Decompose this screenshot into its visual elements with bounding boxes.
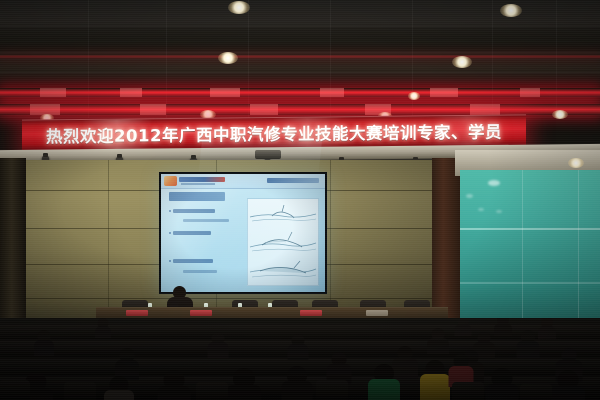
projection-screen [159,172,327,294]
ceiling-downlight [408,92,420,100]
audience-seat [196,382,228,400]
audience-member [210,332,226,352]
audience-member [330,352,348,376]
audience-member [232,368,256,400]
audience-member [162,370,186,400]
name-plate [190,310,212,316]
audience-member [286,366,308,396]
audience-seating [0,318,600,400]
ceiling-downlight [568,158,584,168]
audience-member [424,360,446,392]
audience-seat [316,380,348,400]
ceiling-downlight [452,56,472,68]
ceiling [0,0,600,118]
audience-member [372,364,396,398]
glass-wall-panel [460,170,600,335]
audience-member [556,370,580,400]
audience-member [496,318,510,330]
ceiling-downlight [552,110,568,119]
glass-reflection [488,180,500,186]
audience-member [520,330,536,350]
audience-seat [64,382,96,400]
audience-member [118,348,136,372]
audience-member [36,330,52,350]
audience-member [108,376,130,400]
audience-seat [520,384,552,400]
ceiling-led-strip-near [0,104,600,115]
audience-member [476,332,492,352]
audience-seat [0,380,30,400]
audience-member [96,318,110,334]
ceiling-downlight [228,1,250,14]
ceiling-led-strip-far [0,54,600,59]
audience-member [560,348,578,372]
audience-member [452,354,470,378]
ceiling-downlight [500,4,522,17]
audience-seat [452,382,484,400]
auditorium-photo: 热烈欢迎2012年广西中职汽修专业技能大赛培训专家、学员 [0,0,600,400]
glass-reflection [496,210,502,213]
projected-slide [161,174,325,292]
audience-member [290,334,306,354]
ceiling-led-strip-mid [0,88,600,97]
ceiling-projector [255,150,281,159]
audience-member [430,328,446,348]
ceiling-downlight [218,52,238,64]
audience-member [396,346,414,370]
name-plate [126,310,148,316]
screen-vignette [161,174,325,292]
audience-member [490,368,514,400]
name-plate [300,310,322,316]
glass-reflection [466,194,473,198]
audience-member [540,318,554,333]
glass-reflection [478,208,484,211]
audience-member [456,318,470,332]
name-plate [366,310,388,316]
